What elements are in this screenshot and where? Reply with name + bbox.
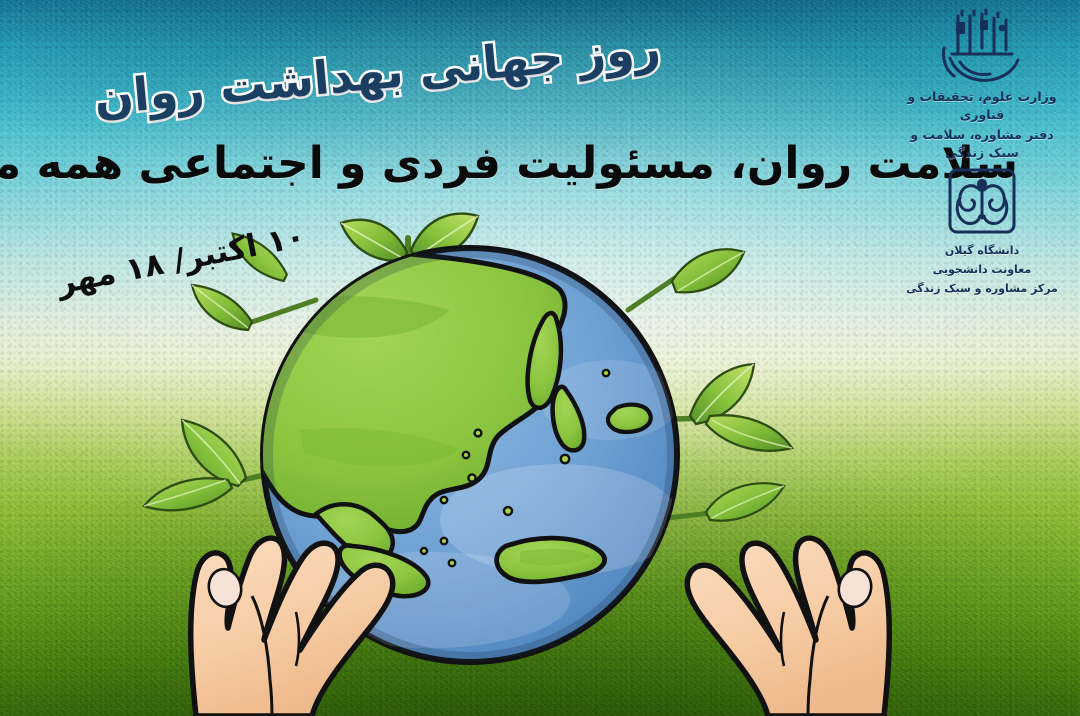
logo-org-caption-line2: دفتر مشاوره، سلامت و سبک زندگی (898, 126, 1066, 162)
logo-org-caption-line1: وزارت علوم، تحقیقات و فناوری (898, 88, 1066, 124)
hand-right (687, 538, 889, 716)
main-headline: سلامت روان، مسئولیت فردی و اجتماعی همه م… (0, 138, 1018, 189)
logo-uni-caption-line1: دانشگاه گیلان (898, 243, 1066, 259)
leaf-cluster-right-upper (628, 249, 744, 310)
logo-university-of-gilan: دانشگاه گیلان معاونت دانشجویی مرکز مشاور… (898, 166, 1066, 297)
logo-student-affairs-organization: وزارت علوم، تحقیقات و فناوری دفتر مشاوره… (898, 8, 1066, 163)
logo-uni-caption-line2: معاونت دانشجویی (898, 262, 1066, 278)
student-affairs-calligraphy-icon (936, 8, 1028, 86)
poster-canvas: روز جهانی بهداشت روان سلامت روان، مسئولی… (0, 0, 1080, 716)
university-of-gilan-emblem-icon (944, 166, 1020, 240)
logo-uni-caption-line3: مرکز مشاوره و سبک زندگی (898, 281, 1066, 297)
